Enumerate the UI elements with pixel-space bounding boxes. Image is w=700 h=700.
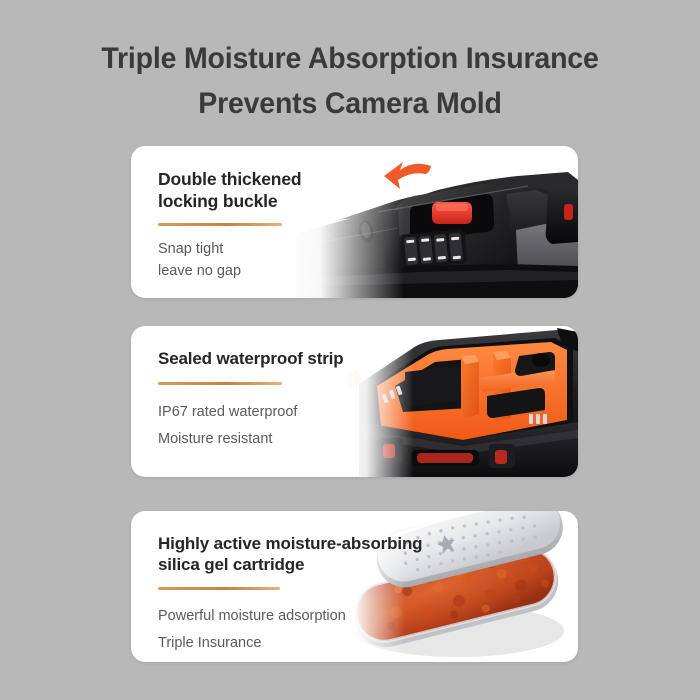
card-title: Highly active moisture-absorbing silica … <box>158 533 422 575</box>
card-bullets: IP67 rated waterproof Moisture resistant <box>158 399 343 453</box>
card-divider <box>158 587 280 590</box>
card-title: Sealed waterproof strip <box>158 348 343 370</box>
card-text-silica-gel-cartridge: Highly active moisture-absorbing silica … <box>158 533 422 657</box>
feature-card-silica-gel-cartridge: Highly active moisture-absorbing silica … <box>131 511 578 662</box>
card-bullet: Snap tight <box>158 238 301 260</box>
card-divider <box>158 382 282 385</box>
card-text-locking-buckle: Double thickened locking buckle Snap tig… <box>158 168 301 282</box>
curved-arrow-icon <box>378 158 434 202</box>
card-bullet: Moisture resistant <box>158 426 343 453</box>
card-title: Double thickened locking buckle <box>158 168 301 212</box>
page-title-line-1: Triple Moisture Absorption Insurance <box>18 36 683 81</box>
card-bullets: Snap tight leave no gap <box>158 238 301 282</box>
feature-card-waterproof-strip: Sealed waterproof strip IP67 rated water… <box>131 326 578 477</box>
card-bullet: leave no gap <box>158 260 301 282</box>
card-bullet: Triple Insurance <box>158 630 422 657</box>
card-bullet: IP67 rated waterproof <box>158 399 343 426</box>
card-bullet: Powerful moisture adsorption <box>158 603 422 630</box>
card-divider <box>158 223 282 226</box>
open-camera-case-orange-dividers-photo <box>343 326 578 477</box>
page-title-line-2: Prevents Camera Mold <box>18 81 683 126</box>
feature-card-locking-buckle: Double thickened locking buckle Snap tig… <box>131 146 578 298</box>
card-text-waterproof-strip: Sealed waterproof strip IP67 rated water… <box>158 348 343 453</box>
page-title: Triple Moisture Absorption Insurance Pre… <box>18 36 683 126</box>
card-bullets: Powerful moisture adsorption Triple Insu… <box>158 603 422 657</box>
